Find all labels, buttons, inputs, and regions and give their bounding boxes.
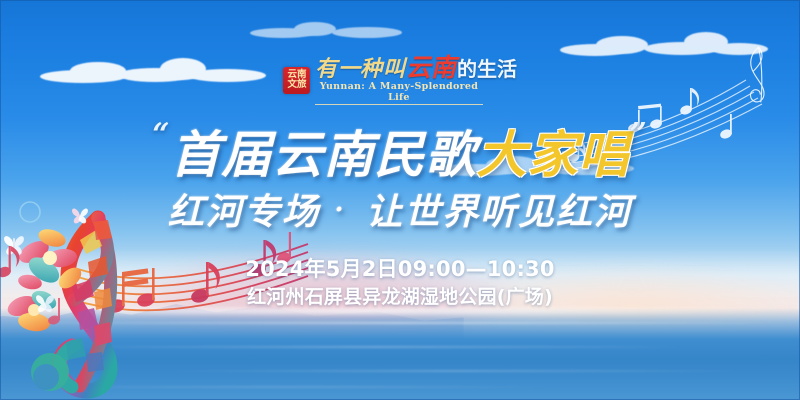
brand-slogan: 有 一种 叫 云南 的生活 Yunnan: A Many-Splendored … — [315, 55, 517, 105]
poster-subtitle: 红河专场 · 让世界听见红河 — [0, 186, 800, 236]
yunnan-culture-tourism-seal: 云南 文旅 — [283, 67, 310, 94]
quote-close: ” — [630, 117, 648, 152]
event-info: 2024年5月2日09:00—10:30 红河州石屏县异龙湖湿地公园(广场) — [0, 256, 800, 310]
title-gold-part: 大家唱 — [477, 125, 630, 184]
brand-slogan-en: Yunnan: A Many-Splendored Life — [315, 81, 483, 105]
slogan-highlight-yunnan: 云南 — [406, 55, 456, 80]
subtitle-separator: · — [334, 195, 351, 225]
water-wave — [160, 370, 752, 372]
brand-logo: 云南 文旅 有 一种 叫 云南 的生活 Yunnan: A Many-Splen… — [283, 58, 517, 102]
slogan-part-4: 的生活 — [457, 59, 517, 79]
slogan-part-1: 有 — [315, 58, 337, 80]
slogan-part-3: 叫 — [383, 58, 405, 80]
cloud-cluster — [40, 56, 270, 86]
subtitle-right: 让世界听见红河 — [366, 191, 632, 233]
brand-slogan-cn: 有 一种 叫 云南 的生活 — [315, 55, 517, 80]
seal-line-2: 文旅 — [287, 80, 306, 90]
cloud-cluster — [250, 18, 420, 42]
slogan-part-2: 一种 — [338, 58, 382, 80]
quote-open: “ — [152, 117, 170, 152]
poster-title: “首届云南民歌大家唱” — [0, 104, 800, 186]
subtitle-left: 红河专场 — [168, 191, 320, 233]
event-venue: 红河州石屏县异龙湖湿地公园(广场) — [0, 284, 800, 310]
title-white-part: 首届云南民歌 — [171, 125, 477, 184]
event-poster: 云南 文旅 有 一种 叫 云南 的生活 Yunnan: A Many-Splen… — [0, 0, 800, 400]
event-datetime: 2024年5月2日09:00—10:30 — [0, 256, 800, 282]
